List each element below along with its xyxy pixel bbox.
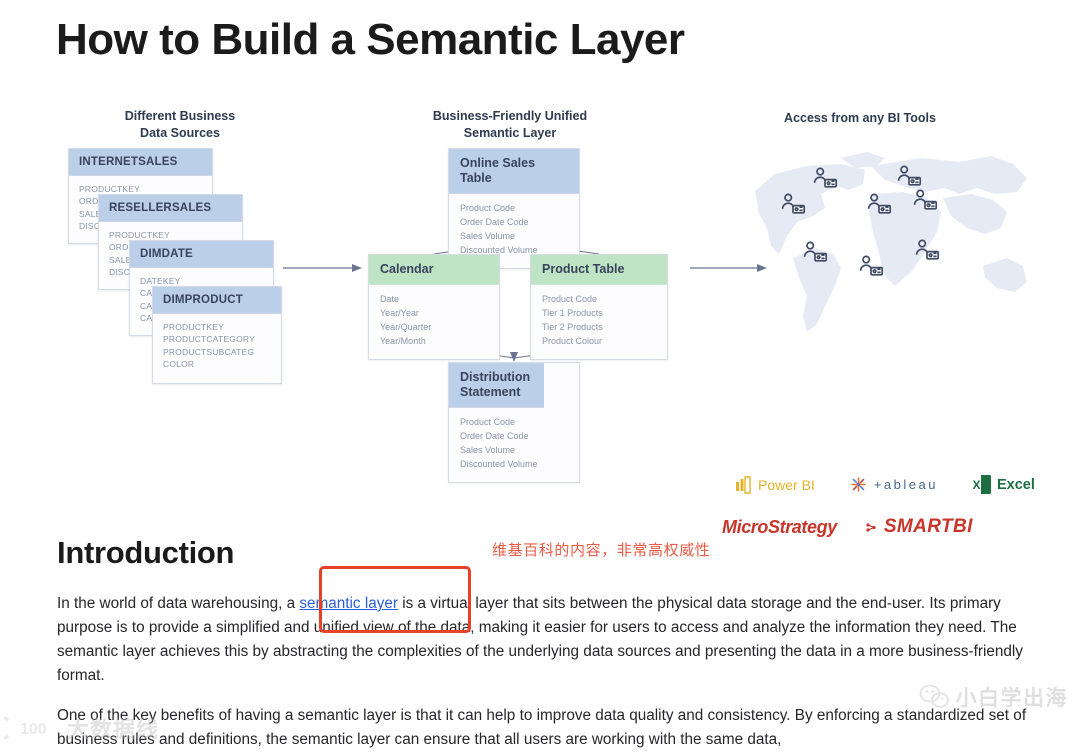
semantic-layer-link[interactable]: semantic layer	[299, 595, 398, 612]
field: PRODUCTKEY	[163, 321, 271, 333]
semantic-layer-diagram: Different Business Data Sources Business…	[0, 96, 1080, 496]
diagram-heading-bi-tools: Access from any BI Tools	[760, 110, 960, 127]
layer-table-title: Product Table	[531, 255, 667, 285]
bi-tool-label: Excel	[997, 477, 1035, 493]
layer-table-distribution-statement[interactable]: Distribution Statement Product Code Orde…	[448, 362, 580, 483]
bi-tool-tableau[interactable]: +ableau	[849, 475, 938, 494]
chinese-annotation: 维基百科的内容，非常高权威性	[492, 539, 710, 560]
field: Year/Year	[380, 307, 488, 321]
paragraph-1: In the world of data warehousing, a sema…	[57, 592, 1052, 688]
arrow-sources-to-layer	[283, 264, 362, 272]
source-table-title: RESELLERSALES	[99, 195, 242, 222]
layer-table-fields: Product Code Tier 1 Products Tier 2 Prod…	[531, 285, 667, 359]
excel-icon: X	[972, 474, 991, 495]
source-table-fields: PRODUCTKEY PRODUCTCATEGORY PRODUCTSUBCAT…	[153, 314, 281, 380]
paragraph-2: One of the key benefits of having a sema…	[57, 704, 1052, 752]
tableau-icon	[849, 475, 868, 494]
field: Product Code	[542, 293, 656, 307]
bi-tool-label: Power BI	[758, 477, 815, 493]
paragraph-1-before: In the world of data warehousing, a	[57, 595, 299, 612]
bi-tool-excel[interactable]: X Excel	[972, 474, 1035, 495]
layer-table-title: Distribution Statement	[449, 363, 544, 408]
source-table-card[interactable]: DIMPRODUCT PRODUCTKEY PRODUCTCATEGORY PR…	[152, 286, 282, 384]
heading-layer-line1: Business-Friendly Unified	[420, 108, 600, 125]
page-title: How to Build a Semantic Layer	[56, 16, 685, 64]
svg-text:100: 100	[20, 721, 47, 738]
field: COLOR	[163, 358, 271, 370]
bi-tool-power-bi[interactable]: Power BI	[735, 476, 815, 494]
field: Order Date Code	[460, 216, 568, 230]
field: Sales Volume	[460, 444, 568, 458]
smartbi-icon	[865, 520, 878, 535]
100-logo: 100	[4, 714, 62, 742]
diagram-heading-semantic-layer: Business-Friendly Unified Semantic Layer	[420, 108, 600, 142]
field: Product Colour	[542, 335, 656, 349]
layer-table-title: Calendar	[369, 255, 499, 285]
bi-tool-microstrategy[interactable]: MicroStrategy	[722, 517, 837, 538]
field: PRODUCTSUBCATEG	[163, 346, 271, 358]
field: Year/Quarter	[380, 321, 488, 335]
powerbi-icon	[735, 476, 752, 494]
introduction-heading: Introduction	[57, 535, 234, 571]
field: Tier 2 Products	[542, 321, 656, 335]
source-table-title: DIMPRODUCT	[153, 287, 281, 314]
layer-table-title: Online Sales Table	[449, 149, 579, 194]
svg-text:X: X	[972, 478, 980, 492]
heading-sources-line2: Data Sources	[95, 125, 265, 142]
layer-table-fields: Product Code Order Date Code Sales Volum…	[449, 408, 579, 482]
diagram-heading-sources: Different Business Data Sources	[95, 108, 265, 142]
bi-tools-row-2: MicroStrategy SMARTBI	[722, 516, 973, 538]
source-table-title: DIMDATE	[130, 241, 273, 268]
map-landmass	[755, 152, 1027, 332]
heading-sources-line1: Different Business	[95, 108, 265, 125]
field: Discounted Volume	[460, 458, 568, 472]
field: Year/Month	[380, 335, 488, 349]
field: Product Code	[460, 202, 568, 216]
bi-tool-label: MicroStrategy	[722, 517, 837, 538]
bi-tool-label: +ableau	[874, 477, 938, 492]
field: Order Date Code	[460, 430, 568, 444]
layer-table-online-sales[interactable]: Online Sales Table Product Code Order Da…	[448, 148, 580, 269]
bi-tool-label: SMARTBI	[884, 516, 973, 538]
bi-tools-row-1: Power BI +ableau X Excel	[735, 474, 1035, 495]
field: PRODUCTCATEGORY	[163, 333, 271, 345]
layer-table-product[interactable]: Product Table Product Code Tier 1 Produc…	[530, 254, 668, 360]
field: Tier 1 Products	[542, 307, 656, 321]
world-map	[745, 136, 1045, 346]
field: Sales Volume	[460, 230, 568, 244]
heading-layer-line2: Semantic Layer	[420, 125, 600, 142]
field: Product Code	[460, 416, 568, 430]
field: Date	[380, 293, 488, 307]
bi-tool-smartbi[interactable]: SMARTBI	[865, 516, 973, 538]
source-table-title: INTERNETSALES	[69, 149, 212, 176]
layer-table-calendar[interactable]: Calendar Date Year/Year Year/Quarter Yea…	[368, 254, 500, 360]
layer-table-fields: Date Year/Year Year/Quarter Year/Month	[369, 285, 499, 359]
